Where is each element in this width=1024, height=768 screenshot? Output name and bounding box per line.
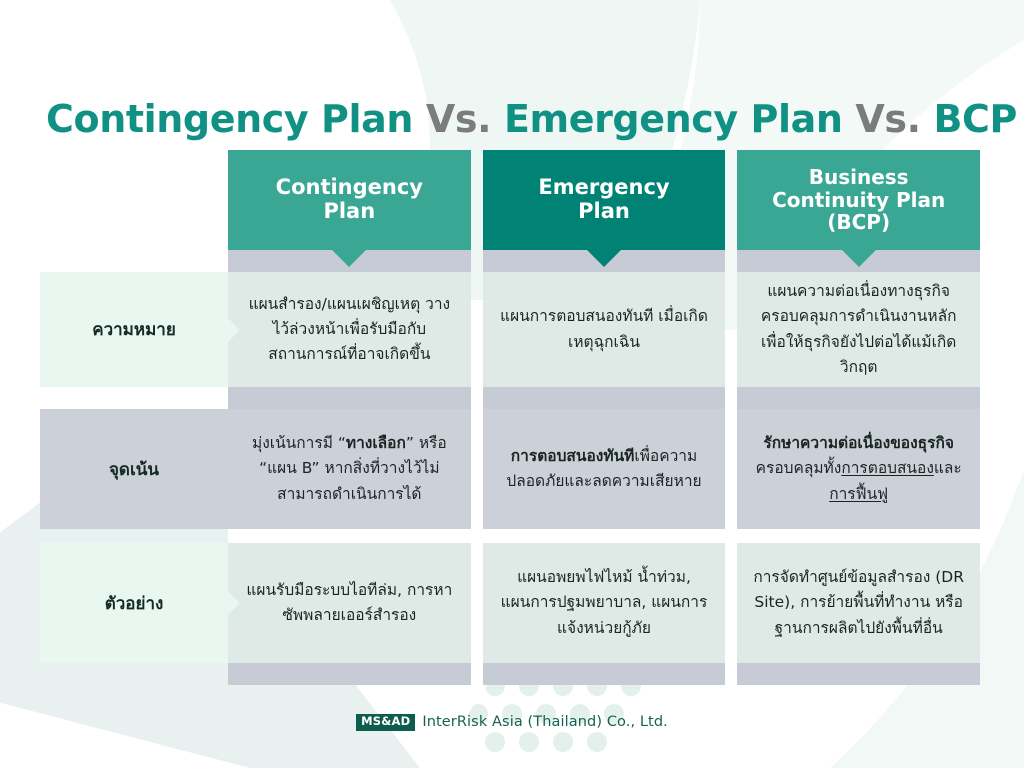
header-strip-row <box>40 250 980 272</box>
cell-example-bcp: การจัดทำศูนย์ข้อมูลสำรอง (DR Site), การย… <box>737 543 980 663</box>
ch-c-line1: Contingency <box>276 175 423 199</box>
footer: MS&AD InterRisk Asia (Thailand) Co., Ltd… <box>0 714 1024 731</box>
row-label-example-text: ตัวอย่าง <box>105 590 164 617</box>
table-row: ตัวอย่าง แผนรับมือระบบไอทีล่ม, การหาซัพพ… <box>40 543 980 663</box>
column-header-contingency-text: ContingencyPlan <box>276 176 423 223</box>
comparison-table: ContingencyPlan EmergencyPlan BusinessCo… <box>40 150 980 685</box>
gap-15 <box>471 663 483 685</box>
table-row: จุดเน้น มุ่งเน้นการมี “ทางเลือก” หรือ “แ… <box>40 409 980 529</box>
bottom-emergency <box>483 663 726 685</box>
ch-b-line1: Business <box>809 165 909 189</box>
cell-meaning-bcp: แผนความต่อเนื่องทางธุรกิจ ครอบคลุมการดำเ… <box>737 272 980 387</box>
gap-16 <box>725 663 737 685</box>
cell-focus-contingency: มุ่งเน้นการมี “ทางเลือก” หรือ “แผน B” หา… <box>228 409 471 529</box>
table-row: ความหมาย แผนสำรอง/แผนเผชิญเหตุ วางไว้ล่ว… <box>40 272 980 387</box>
msad-logo-mark: MS&AD <box>356 714 415 731</box>
ch-b-line2: Continuity Plan <box>772 188 945 212</box>
gap-11 <box>471 529 483 543</box>
row-label-meaning-text: ความหมาย <box>92 316 176 343</box>
row-separator-1 <box>40 387 980 409</box>
strip-label-spacer-1 <box>40 250 228 272</box>
table-bottom-strip <box>40 663 980 685</box>
row-separator-2 <box>40 529 980 543</box>
title-part-vs-1: Vs. <box>426 97 504 141</box>
column-header-bcp-text: BusinessContinuity Plan(BCP) <box>772 166 945 233</box>
gap-5 <box>471 272 483 387</box>
column-header-contingency: ContingencyPlan <box>228 150 471 250</box>
title-part-bcp: BCP <box>933 97 1017 141</box>
page-title: Contingency Plan Vs. Emergency Plan Vs. … <box>46 97 1017 141</box>
gap-9 <box>471 409 483 529</box>
arrow-right-icon-example <box>228 591 240 615</box>
bottom-contingency <box>228 663 471 685</box>
cell-meaning-emergency: แผนการตอบสนองทันที เมื่อเกิดเหตุฉุกเฉิน <box>483 272 726 387</box>
ch-b-line3: (BCP) <box>827 210 890 234</box>
arrow-down-icon-contingency <box>332 250 366 267</box>
cell-focus-emergency: การตอบสนองทันทีเพื่อความปลอดภัยและลดความ… <box>483 409 726 529</box>
gap-4 <box>725 250 737 272</box>
sep-bcp-2 <box>737 529 980 543</box>
cell-focus-bcp: รักษาความต่อเนื่องของธุรกิจครอบคลุมทั้งก… <box>737 409 980 529</box>
arrow-right-icon-meaning <box>228 318 240 342</box>
footer-company-name: InterRisk Asia (Thailand) Co., Ltd. <box>422 714 668 730</box>
column-header-emergency: EmergencyPlan <box>483 150 726 250</box>
sep-bcp-1 <box>737 387 980 409</box>
cell-example-contingency: แผนรับมือระบบไอทีล่ม, การหาซัพพลายเออร์ส… <box>228 543 471 663</box>
gap-6 <box>725 272 737 387</box>
column-header-emergency-text: EmergencyPlan <box>538 176 669 223</box>
gap-1 <box>471 150 483 250</box>
strip-emergency <box>483 250 726 272</box>
sep-emergency-1 <box>483 387 726 409</box>
header-label-spacer <box>40 150 228 250</box>
title-part-vs-2: Vs. <box>855 97 933 141</box>
bottom-bcp <box>737 663 980 685</box>
cell-meaning-contingency: แผนสำรอง/แผนเผชิญเหตุ วางไว้ล่วงหน้าเพื่… <box>228 272 471 387</box>
strip-contingency <box>228 250 471 272</box>
row-label-wrap-focus: จุดเน้น <box>40 409 228 529</box>
gap-13 <box>471 543 483 663</box>
row-label-wrap-example: ตัวอย่าง <box>40 543 228 663</box>
gap-7 <box>471 387 483 409</box>
row-label-wrap-meaning: ความหมาย <box>40 272 228 387</box>
gap-8 <box>725 387 737 409</box>
sep-emergency-2 <box>483 529 726 543</box>
title-part-emergency: Emergency Plan <box>504 97 855 141</box>
strip-label-spacer-4 <box>40 663 228 685</box>
row-label-focus: จุดเน้น <box>40 409 228 529</box>
sep-contingency-2 <box>228 529 471 543</box>
gap-14 <box>725 543 737 663</box>
arrow-down-icon-emergency <box>587 250 621 267</box>
ch-e-line2: Plan <box>578 199 630 223</box>
strip-bcp <box>737 250 980 272</box>
gap-3 <box>471 250 483 272</box>
sep-contingency-1 <box>228 387 471 409</box>
row-label-focus-text: จุดเน้น <box>109 456 159 483</box>
gap-12 <box>725 529 737 543</box>
row-label-meaning: ความหมาย <box>40 272 228 387</box>
arrow-down-icon-bcp <box>842 250 876 267</box>
gap-2 <box>725 150 737 250</box>
title-part-contingency: Contingency Plan <box>46 97 426 141</box>
arrow-right-icon-focus <box>228 457 240 481</box>
cell-example-emergency: แผนอพยพไฟไหม้ น้ำท่วม, แผนการปฐมพยาบาล, … <box>483 543 726 663</box>
strip-label-spacer-2 <box>40 387 228 409</box>
column-header-bcp: BusinessContinuity Plan(BCP) <box>737 150 980 250</box>
gap-10 <box>725 409 737 529</box>
ch-e-line1: Emergency <box>538 175 669 199</box>
ch-c-line2: Plan <box>323 199 375 223</box>
strip-label-spacer-3 <box>40 529 228 543</box>
row-label-example: ตัวอย่าง <box>40 543 228 663</box>
table-header-row: ContingencyPlan EmergencyPlan BusinessCo… <box>40 150 980 250</box>
